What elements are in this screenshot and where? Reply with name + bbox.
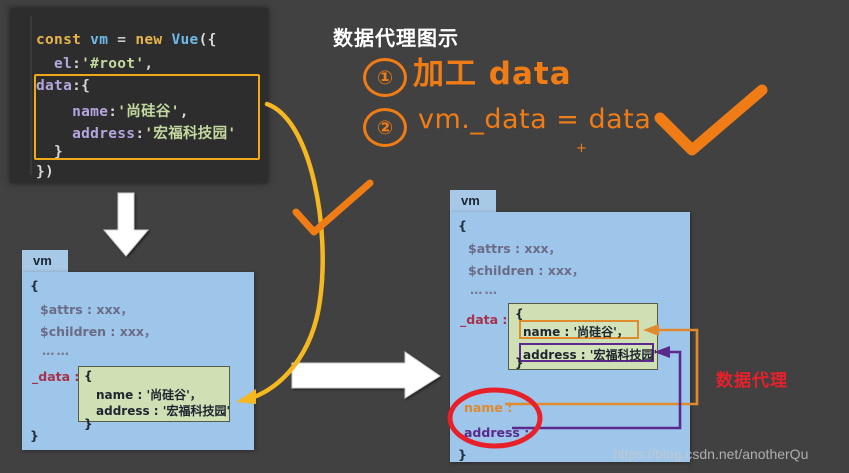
page-title: 数据代理图示	[333, 22, 459, 51]
code-panel: const vm = new Vue({ el:'#root', data:{ …	[10, 8, 268, 183]
token-paren-open: ({	[199, 32, 217, 48]
token-const: const	[36, 32, 81, 48]
vm-left-children-key: $children	[40, 324, 106, 339]
vm-left-obj-address-value: '宏福科技园'	[163, 404, 230, 418]
vm-right-data-sep: :	[498, 312, 507, 327]
orange-check-mark-small	[296, 183, 370, 232]
code-line-7: })	[36, 164, 54, 180]
step-2-circle: ②	[363, 108, 407, 147]
vm-right-obj-address-sep: :	[577, 348, 590, 362]
accessor-address: address :	[464, 425, 529, 440]
vm-right-obj-name: name : '尚硅谷'，	[523, 323, 629, 340]
token-vm: vm	[81, 32, 117, 48]
data-highlight-box	[34, 74, 260, 160]
code-gutter	[30, 16, 32, 175]
vm-left-obj-name-value: '尚硅谷'，	[146, 388, 201, 402]
vm-right-obj-open: {	[515, 307, 524, 321]
diagram-canvas: const vm = new Vue({ el:'#root', data:{ …	[0, 0, 849, 473]
vm-left-obj-open: {	[84, 369, 93, 383]
vm-right-data-key: _data :	[460, 312, 507, 327]
vm-left-open-brace: {	[30, 278, 39, 293]
annotation-step-2: ② vm._data = data +	[363, 108, 407, 147]
vm-right-obj-name-value: '尚硅谷'，	[573, 325, 628, 339]
vm-left-attrs-sep: :	[83, 302, 97, 317]
token-vue: Vue	[171, 32, 198, 48]
vm-right-tab: vm	[450, 190, 496, 212]
vm-right-open-brace: {	[458, 218, 467, 233]
white-right-arrow	[292, 352, 440, 398]
vm-right-children-key: $children	[468, 263, 534, 278]
vm-right-prop-children: $children : xxx，	[468, 260, 584, 279]
vm-right-obj-name-sep: :	[560, 325, 573, 339]
vm-right-obj-name-key: name	[523, 325, 560, 339]
vm-left-obj-address-key: address	[96, 404, 150, 418]
vm-left-attrs-value: xxx，	[96, 302, 133, 317]
token-new: new	[135, 32, 171, 48]
accessor-name: name :	[464, 400, 512, 415]
token-close-paren: })	[36, 164, 54, 180]
vm-left-obj-name-key: name	[96, 388, 133, 402]
token-colon-el: :	[72, 56, 81, 72]
step-1-circle: ①	[363, 58, 407, 97]
vm-left-ellipsis: ……	[42, 343, 71, 358]
vm-right-attrs-sep: :	[511, 241, 525, 256]
vm-right-data-label: _data	[460, 312, 498, 327]
vm-right-obj-address-value: '宏福科技园'	[590, 348, 657, 362]
vm-left-children-value: xxx，	[120, 324, 157, 339]
accessor-address-key: address	[464, 425, 520, 440]
token-assign: =	[117, 32, 135, 48]
plus-mark: +	[576, 141, 587, 156]
vm-left-obj-name-sep: :	[133, 388, 146, 402]
code-line-1: const vm = new Vue({	[36, 32, 217, 48]
vm-left-tab: vm	[22, 250, 68, 272]
vm-right-close-brace: }	[458, 447, 467, 462]
vm-right-attrs-value: xxx，	[524, 241, 561, 256]
vm-right-obj-address-key: address	[523, 348, 577, 362]
vm-left-obj-address: address : '宏福科技园'	[96, 402, 230, 419]
step-1-text: 加工 data	[413, 48, 572, 93]
accessor-address-sep: :	[520, 425, 529, 440]
vm-left-prop-attrs: $attrs : xxx，	[40, 299, 133, 318]
vm-left-close-brace: }	[30, 428, 39, 443]
vm-right-attrs-key: $attrs	[468, 241, 511, 256]
token-comma-el: ,	[144, 56, 153, 72]
token-el: el	[36, 56, 72, 72]
accessor-name-key: name	[464, 400, 503, 415]
token-root-string: '#root'	[81, 56, 144, 72]
vm-left-obj-address-sep: :	[150, 404, 163, 418]
white-down-arrow	[104, 193, 148, 256]
watermark: https://blog.csdn.net/anotherQu	[613, 446, 808, 462]
code-line-2: el:'#root',	[36, 56, 153, 72]
vm-left-data-key: _data :	[32, 369, 79, 384]
vm-right-obj-close: }	[515, 356, 524, 370]
vm-left-children-sep: :	[106, 324, 120, 339]
vm-right-obj-address: address : '宏福科技园'	[523, 346, 657, 363]
vm-left-attrs-key: $attrs	[40, 302, 83, 317]
step-2-text: vm._data = data	[418, 104, 651, 135]
accessor-name-sep: :	[503, 400, 512, 415]
annotation-step-1: ① 加工 data	[363, 58, 407, 97]
vm-left-prop-children: $children : xxx，	[40, 321, 156, 340]
vm-left-data-label: _data	[32, 369, 70, 384]
vm-left-obj-close: }	[84, 417, 93, 431]
vm-left-obj-name: name : '尚硅谷'，	[96, 386, 202, 403]
vm-right-prop-attrs: $attrs : xxx，	[468, 238, 561, 257]
vm-right-children-sep: :	[534, 263, 548, 278]
vm-right-children-value: xxx，	[548, 263, 585, 278]
data-proxy-label: 数据代理	[716, 366, 788, 391]
vm-right-ellipsis: ……	[470, 282, 499, 297]
orange-check-mark-large	[660, 90, 762, 150]
